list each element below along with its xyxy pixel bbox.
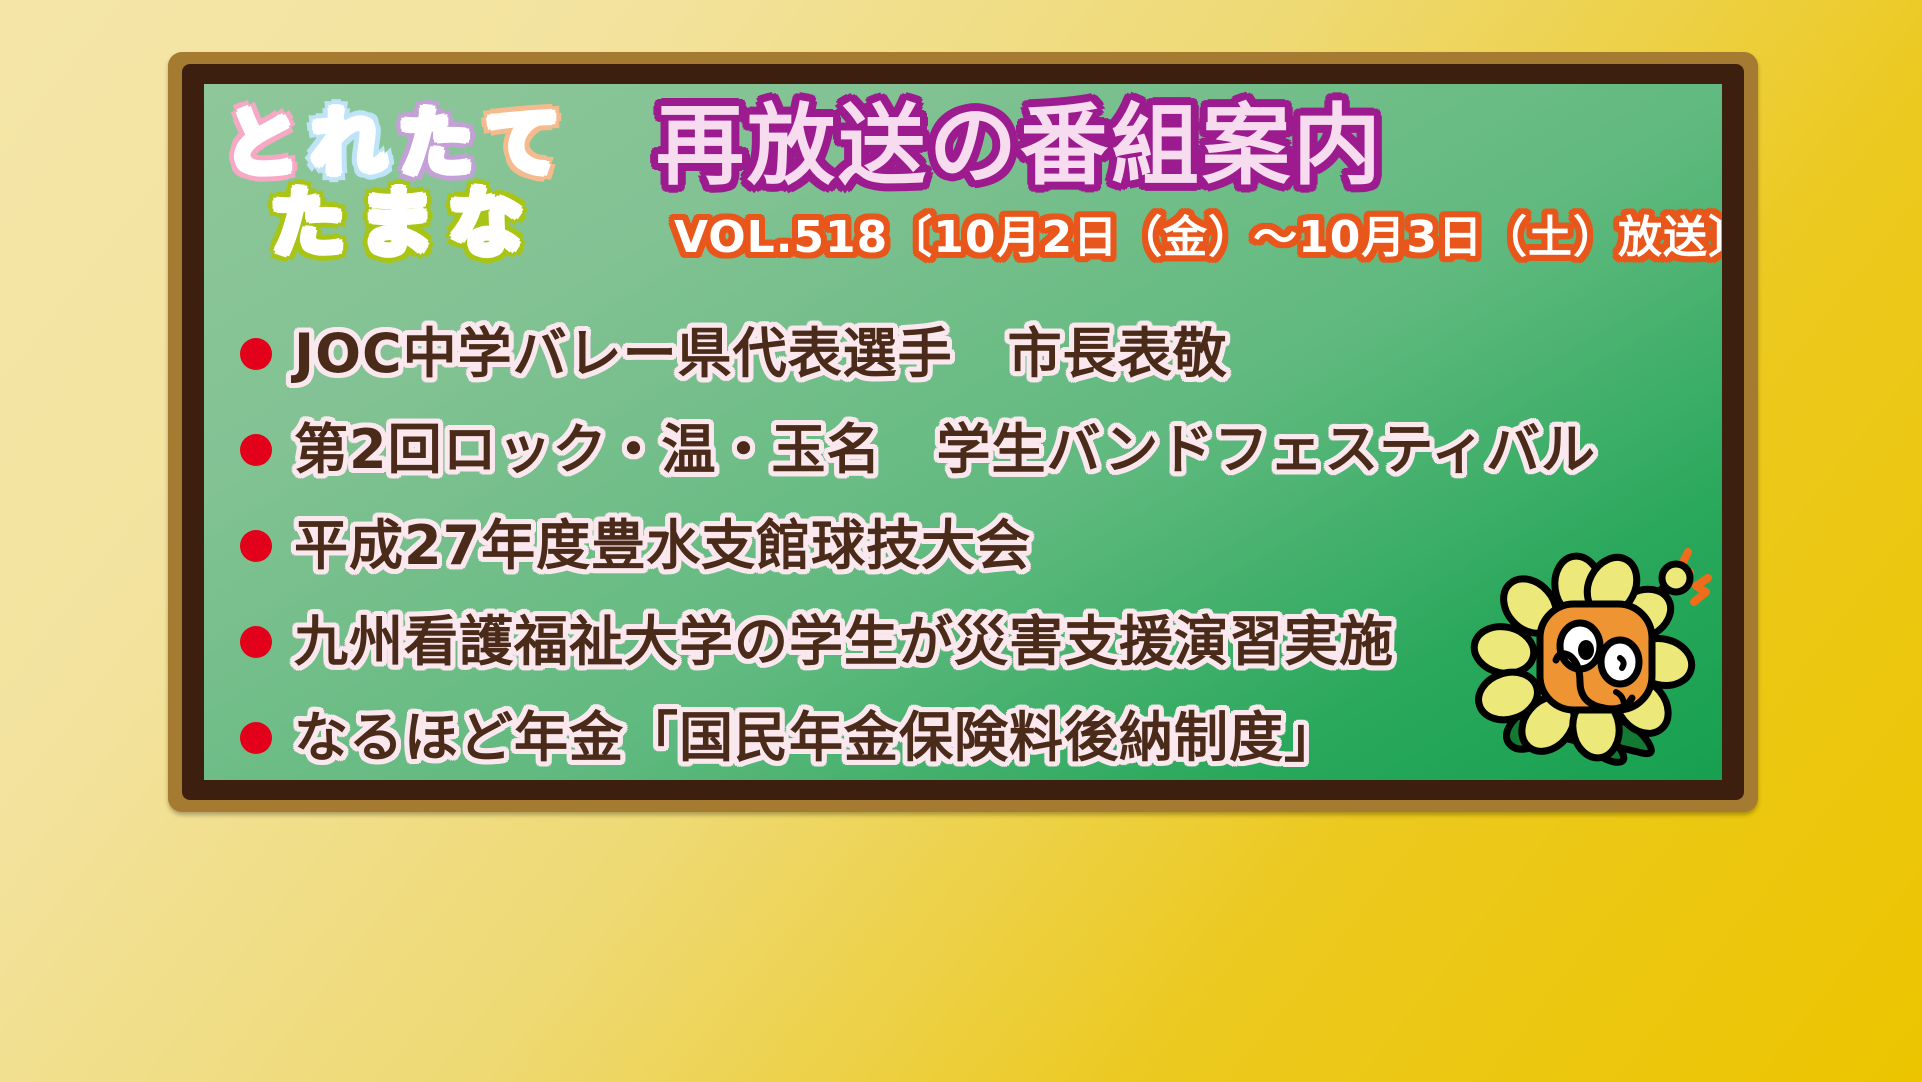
logo-char-na: なな — [448, 186, 537, 261]
program-guide-poster: ととれれたたてて たたままなな 再放送の番組案内 VOL.518〔10月2日（金… — [0, 0, 1922, 1082]
board-frame: ととれれたたてて たたままなな 再放送の番組案内 VOL.518〔10月2日（金… — [168, 52, 1758, 812]
list-item[interactable]: 平成27年度豊水支館球技大会 — [222, 498, 1712, 594]
logo-char-te: てて — [485, 106, 572, 181]
red-dot-icon — [240, 530, 272, 562]
topic-label: 平成27年度豊水支館球技大会 — [294, 519, 1031, 573]
logo-line-toretate: ととれれたたてて — [224, 106, 572, 181]
topic-label: なるほど年金「国民年金保険料後納制度」 — [294, 711, 1339, 765]
topic-label: JOC中学バレー県代表選手 市長表敬 — [294, 327, 1228, 381]
logo-char-ma: まま — [359, 186, 448, 261]
volume-subtitle: VOL.518〔10月2日（金）～10月3日（土）放送〕 — [674, 216, 1722, 260]
red-dot-icon — [240, 338, 272, 370]
topic-list: JOC中学バレー県代表選手 市長表敬 第2回ロック・温・玉名 学生バンドフェステ… — [222, 306, 1712, 776]
list-item[interactable]: JOC中学バレー県代表選手 市長表敬 — [222, 306, 1712, 402]
logo-line-tamana: たたままなな — [270, 186, 537, 261]
board-frame-inner: ととれれたたてて たたままなな 再放送の番組案内 VOL.518〔10月2日（金… — [182, 64, 1744, 800]
logo-char-re: れれ — [311, 106, 398, 181]
logo-char-ta: たた — [398, 106, 485, 181]
list-item[interactable]: 九州看護福祉大学の学生が災害支援演習実施 — [222, 594, 1712, 690]
page-title: 再放送の番組案内 — [656, 102, 1384, 190]
topic-label: 第2回ロック・温・玉名 学生バンドフェスティバル — [294, 423, 1596, 477]
list-item[interactable]: 第2回ロック・温・玉名 学生バンドフェスティバル — [222, 402, 1712, 498]
logo-char-ta2: たた — [270, 186, 359, 261]
red-dot-icon — [240, 626, 272, 658]
red-dot-icon — [240, 434, 272, 466]
poster-header: ととれれたたてて たたままなな 再放送の番組案内 VOL.518〔10月2日（金… — [204, 84, 1722, 302]
logo-char-to: とと — [224, 106, 311, 181]
list-item[interactable]: なるほど年金「国民年金保険料後納制度」 — [222, 690, 1712, 780]
topic-label: 九州看護福祉大学の学生が災害支援演習実施 — [294, 615, 1394, 669]
board-surface: ととれれたたてて たたままなな 再放送の番組案内 VOL.518〔10月2日（金… — [204, 84, 1722, 780]
program-logo: ととれれたたてて たたままなな — [218, 94, 638, 294]
red-dot-icon — [240, 722, 272, 754]
